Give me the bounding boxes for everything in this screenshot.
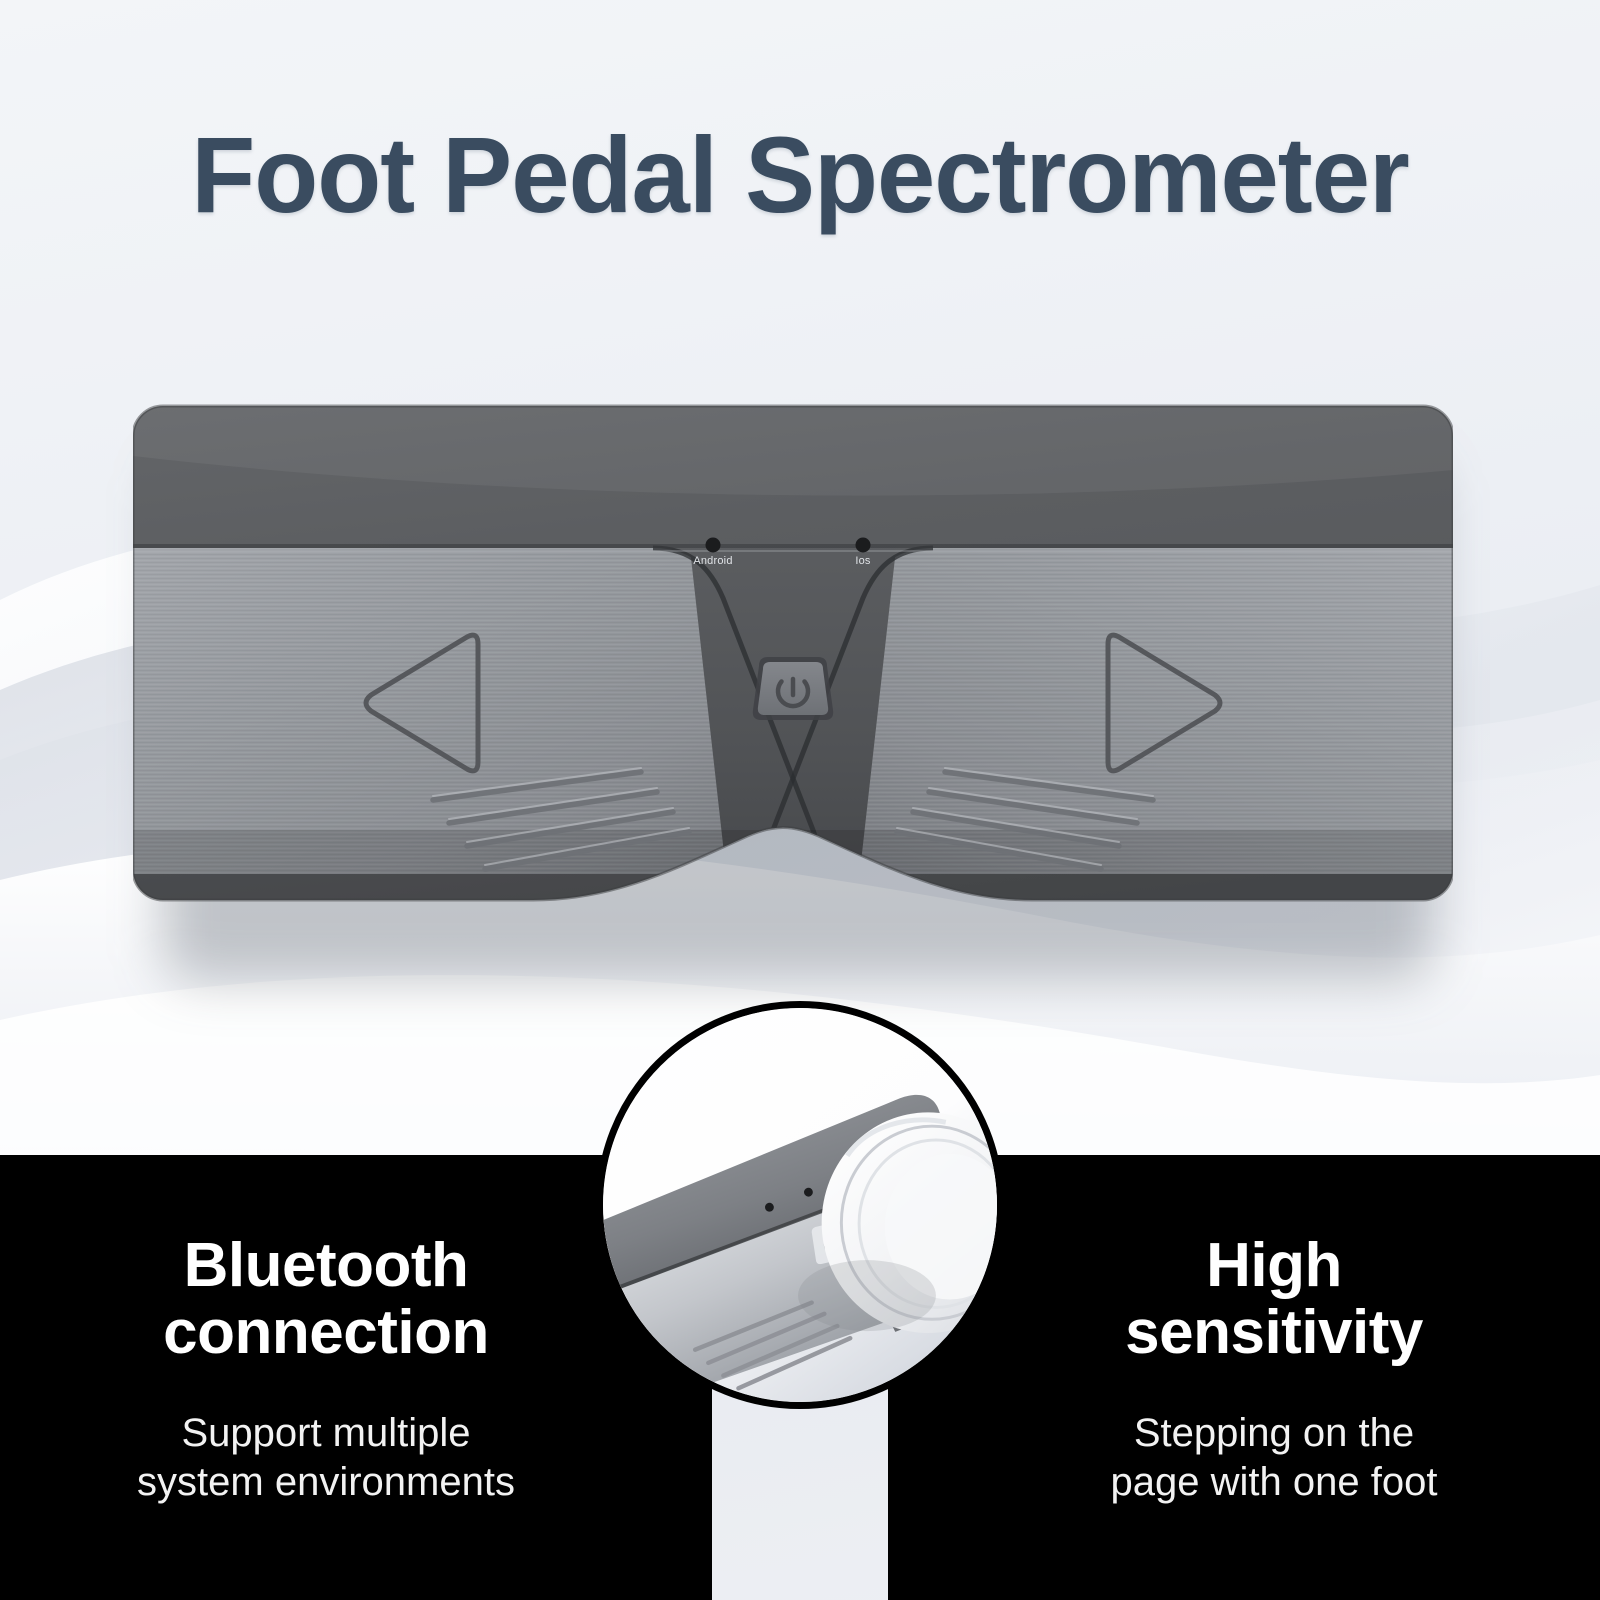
detail-inset-foot-on-pedal — [596, 1001, 1004, 1409]
feature-sub-line-2: page with one foot — [1008, 1458, 1540, 1507]
device-illustration — [133, 400, 1453, 970]
device-hero-image: Android Ios — [133, 400, 1453, 970]
feature-sub-line-1: Stepping on the — [1008, 1409, 1540, 1458]
led-label-android: Android — [673, 555, 753, 567]
feature-sub-line-1: Support multiple — [60, 1409, 592, 1458]
feature-heading-line-1: High — [1008, 1233, 1540, 1300]
feature-sub-line-2: system environments — [60, 1458, 592, 1507]
feature-heading-line-1: Bluetooth — [60, 1233, 592, 1300]
feature-subtext-sensitivity: Stepping on the page with one foot — [1008, 1409, 1540, 1507]
detail-inset-illustration — [603, 1008, 997, 1402]
led-label-ios: Ios — [823, 555, 903, 567]
led-android — [706, 538, 721, 553]
feature-heading-sensitivity: High sensitivity — [1008, 1233, 1540, 1367]
feature-heading-bluetooth: Bluetooth connection — [60, 1233, 592, 1367]
feature-heading-line-2: sensitivity — [1008, 1300, 1540, 1367]
feature-subtext-bluetooth: Support multiple system environments — [60, 1409, 592, 1507]
page-title: Foot Pedal Spectrometer — [24, 112, 1576, 237]
led-ios — [856, 538, 871, 553]
feature-heading-line-2: connection — [60, 1300, 592, 1367]
product-poster: Foot Pedal Spectrometer — [0, 0, 1600, 1600]
power-button-shape — [753, 657, 833, 720]
